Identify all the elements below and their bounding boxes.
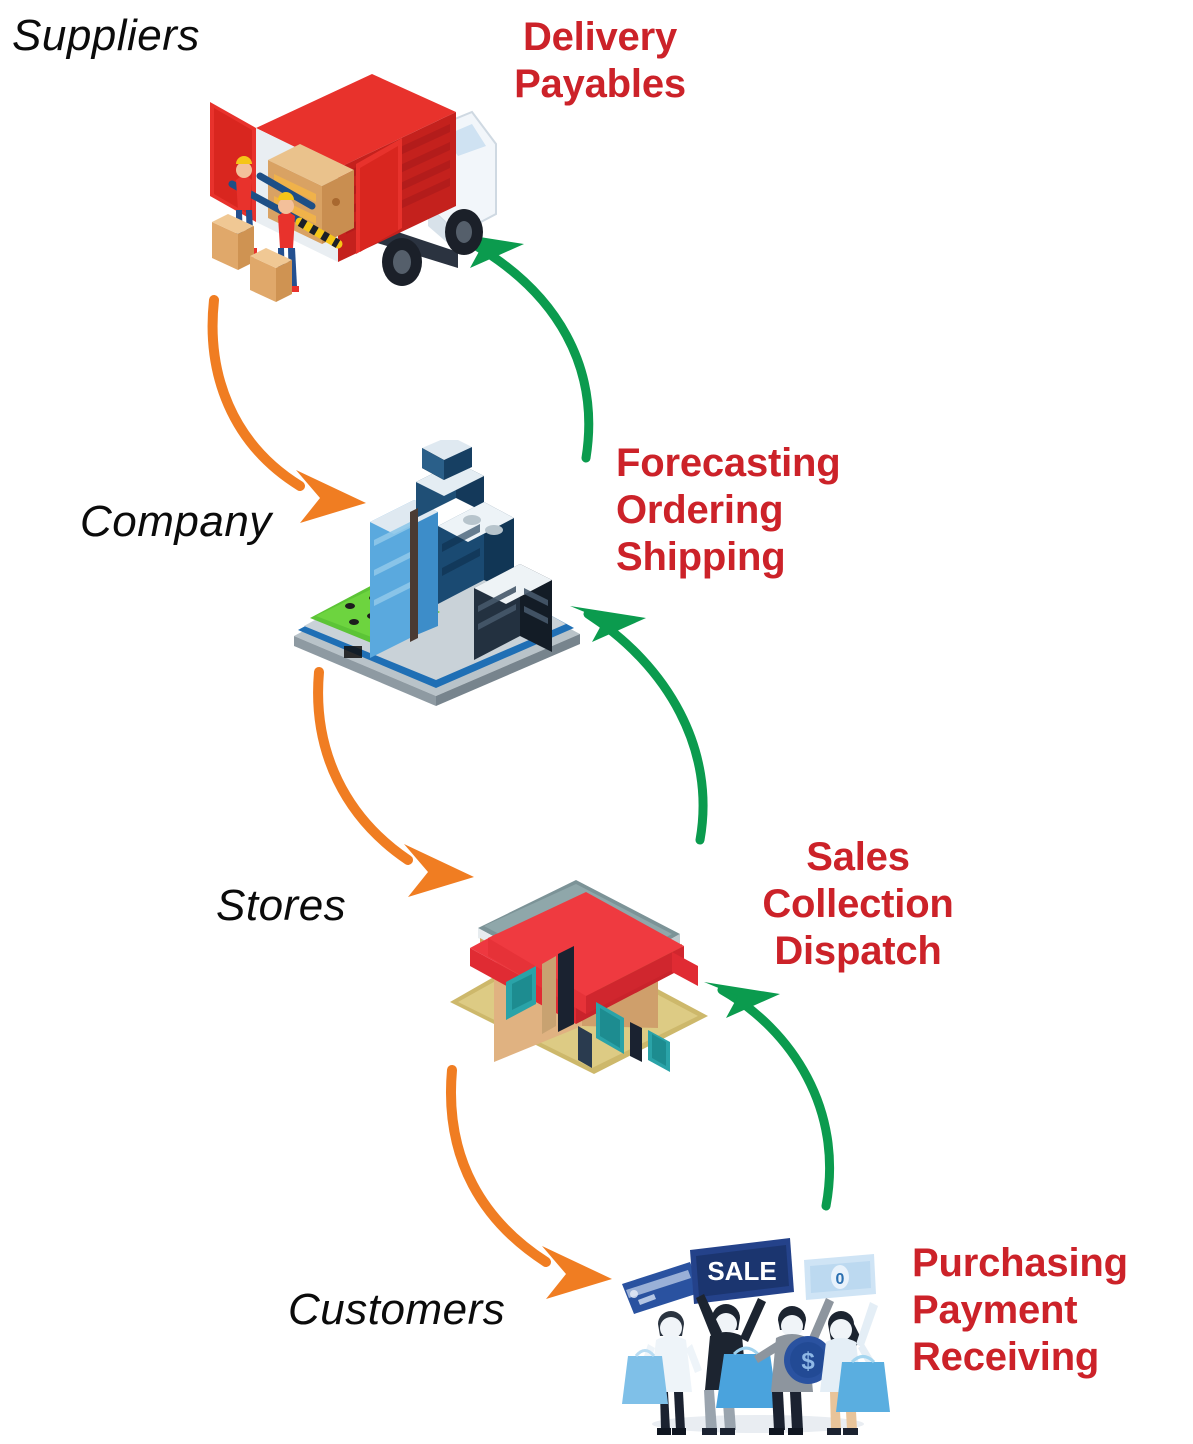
tier-label-customers: Customers xyxy=(288,1288,505,1332)
delivery-truck-icon xyxy=(196,56,506,312)
sale-sign: SALE xyxy=(690,1238,794,1304)
sale-sign-text: SALE xyxy=(707,1256,776,1286)
office-buildings-icon xyxy=(288,440,584,708)
process-label-sales-collection-dispatch: Sales Collection Dispatch xyxy=(748,834,968,974)
process-label-forecasting-ordering-shipping: Forecasting Ordering Shipping xyxy=(616,440,916,580)
banknote-icon: 0 xyxy=(804,1254,876,1300)
tier-label-company: Company xyxy=(80,500,272,544)
supply-chain-diagram: Suppliers Company Stores Customers Deliv… xyxy=(0,0,1193,1444)
credit-card-icon xyxy=(622,1262,702,1314)
retail-store-icon xyxy=(436,876,726,1082)
customer-figure-4 xyxy=(820,1302,890,1435)
downstream-arrow-stores-customers xyxy=(451,1070,612,1299)
process-label-delivery-payables: Delivery Payables xyxy=(492,14,708,108)
svg-text:0: 0 xyxy=(836,1271,845,1288)
dollar-symbol: $ xyxy=(801,1348,815,1375)
flow-arrow-layer xyxy=(0,0,1193,1444)
process-label-purchasing-payment-receiving: Purchasing Payment Receiving xyxy=(912,1240,1193,1380)
tier-label-stores: Stores xyxy=(216,884,346,928)
customer-figure-1 xyxy=(622,1311,702,1435)
shoppers-group-icon: SALE 0 xyxy=(612,1232,898,1438)
customer-figure-2 xyxy=(696,1294,778,1435)
upstream-arrow-stores-company xyxy=(570,606,703,840)
tier-label-suppliers: Suppliers xyxy=(12,14,200,58)
